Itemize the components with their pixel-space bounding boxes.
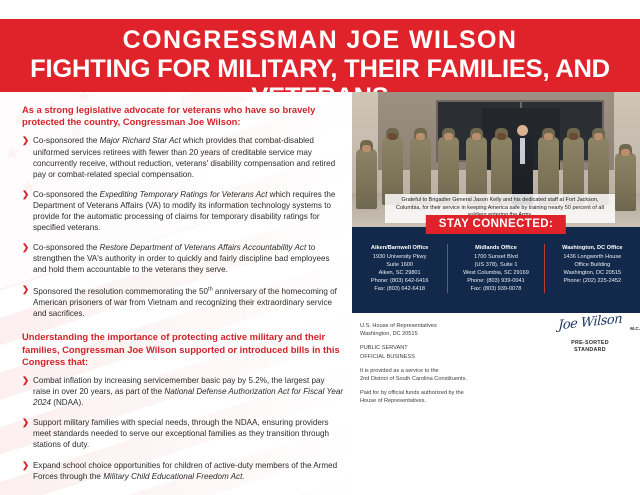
list-item-text: Co-sponsored the Expediting Temporary Ra… [33,190,335,232]
header-banner: CONGRESSMAN JOE WILSON FIGHTING FOR MILI… [0,19,640,92]
return-address-line1: U.S. House of Representatives [360,323,437,329]
office-address-line: 1700 Sunset Blvd [474,254,518,260]
postal-block: U.S. House of Representatives Washington… [352,313,640,406]
photo-person [356,149,377,209]
office-midlands: Midlands Office 1700 Sunset Blvd (US 378… [447,244,543,293]
flag-star-icon: ★ [4,144,21,163]
stay-connected-panel: STAY CONNECTED: Aiken/Barnwell Office 19… [352,227,640,313]
banner-title: CONGRESSMAN JOE WILSON [0,27,640,53]
chevron-right-icon: ❯ [22,242,29,253]
list-item-text: Support military families with special n… [33,418,329,449]
list-item: ❯ Combat inflation by increasing service… [22,375,344,408]
mailer-page: ★ ★ ★ ★ ★ ★ ★ ★ CONGRESSMAN JOE WILSON F… [0,0,640,495]
office-fax: Fax: (803) 642-6418 [374,286,425,292]
office-name: Washington, DC Office [548,244,637,252]
office-address-line: Office Building [574,262,610,268]
office-address-line: Aiken, SC 29801 [379,270,421,276]
military-bullet-list: ❯ Combat inflation by increasing service… [22,375,344,482]
office-address-line: West Columbia, SC 29169 [463,270,529,276]
public-servant-label: PUBLIC SERVANT [360,345,408,351]
office-address-line: (US 378), Suite 1 [475,262,518,268]
chevron-right-icon: ❯ [22,189,29,200]
office-address-line: 1436 Longworth House [563,254,621,260]
list-item-text: Combat inflation by increasing serviceme… [33,376,343,407]
signature-block: Joe Wilson M.C. PRE-SORTED STANDARD [538,319,640,354]
list-item: ❯ Sponsored the resolution commemorating… [22,284,344,319]
list-item: ❯ Co-sponsored the Expediting Temporary … [22,189,344,233]
list-item: ❯ Support military families with special… [22,417,344,450]
list-item-text: Co-sponsored the Restore Department of V… [33,243,330,274]
service-notice-line2: 2nd District of South Carolina Constitue… [360,376,467,382]
office-fax: Fax: (803) 939-0078 [471,286,522,292]
chevron-right-icon: ❯ [22,460,29,471]
office-address-line: Washington, DC 20515 [564,270,622,276]
office-phone: Phone: (202) 225-2452 [564,278,622,284]
office-name: Midlands Office [451,244,540,252]
stay-connected-heading: STAY CONNECTED: [426,215,566,234]
list-item: ❯ Co-sponsored the Restore Department of… [22,242,344,275]
left-content-column: As a strong legislative advocate for vet… [22,104,344,491]
chevron-right-icon: ❯ [22,284,29,295]
group-photo: Grateful to Brigadier General Jason Kell… [352,92,640,227]
office-aiken-barnwell: Aiken/Barnwell Office 1930 University Pk… [352,244,447,293]
office-phone: Phone: (803) 642-6416 [371,278,429,284]
funding-notice-line1: Paid for by official funds authorized by… [360,390,464,396]
office-address-line: Suite 1600 [386,262,413,268]
funding-notice-line2: House of Representatives. [360,398,426,404]
office-name: Aiken/Barnwell Office [355,244,444,252]
chevron-right-icon: ❯ [22,417,29,428]
photo-person [615,153,636,211]
office-address-line: 1930 University Pkwy [373,254,426,260]
official-business-label: OFFICIAL BUSINESS [360,354,415,360]
funding-notice: Paid for by official funds authorized by… [360,389,640,405]
service-notice: It is provided as a service to the 2nd D… [360,367,640,383]
list-item-text: Co-sponsored the Major Richard Star Act … [33,136,335,178]
presort-line2: STANDARD [574,347,606,353]
presort-line1: PRE-SORTED [571,340,609,346]
list-item-text: Expand school choice opportunities for c… [33,461,337,481]
office-phone: Phone: (803) 939-0041 [467,278,525,284]
list-item-text: Sponsored the resolution commemorating t… [33,287,337,318]
signature-suffix: M.C. [630,325,640,333]
presort-indicia: PRE-SORTED STANDARD [538,340,640,354]
lead-paragraph-military: Understanding the importance of protecti… [22,331,344,368]
office-list: Aiken/Barnwell Office 1930 University Pk… [352,244,640,293]
lead-paragraph-veterans: As a strong legislative advocate for vet… [22,104,344,128]
chevron-right-icon: ❯ [22,135,29,146]
office-washington-dc: Washington, DC Office 1436 Longworth Hou… [544,244,640,293]
right-column: Grateful to Brigadier General Jason Kell… [352,92,640,412]
chevron-right-icon: ❯ [22,375,29,386]
list-item: ❯ Co-sponsored the Major Richard Star Ac… [22,135,344,179]
signature-wrap: Joe Wilson M.C. [538,319,640,339]
return-address-line2: Washington, DC 20515 [360,331,418,337]
veterans-bullet-list: ❯ Co-sponsored the Major Richard Star Ac… [22,135,344,319]
signature: Joe Wilson [558,316,622,331]
service-notice-line1: It is provided as a service to the [360,368,439,374]
list-item: ❯ Expand school choice opportunities for… [22,460,344,482]
